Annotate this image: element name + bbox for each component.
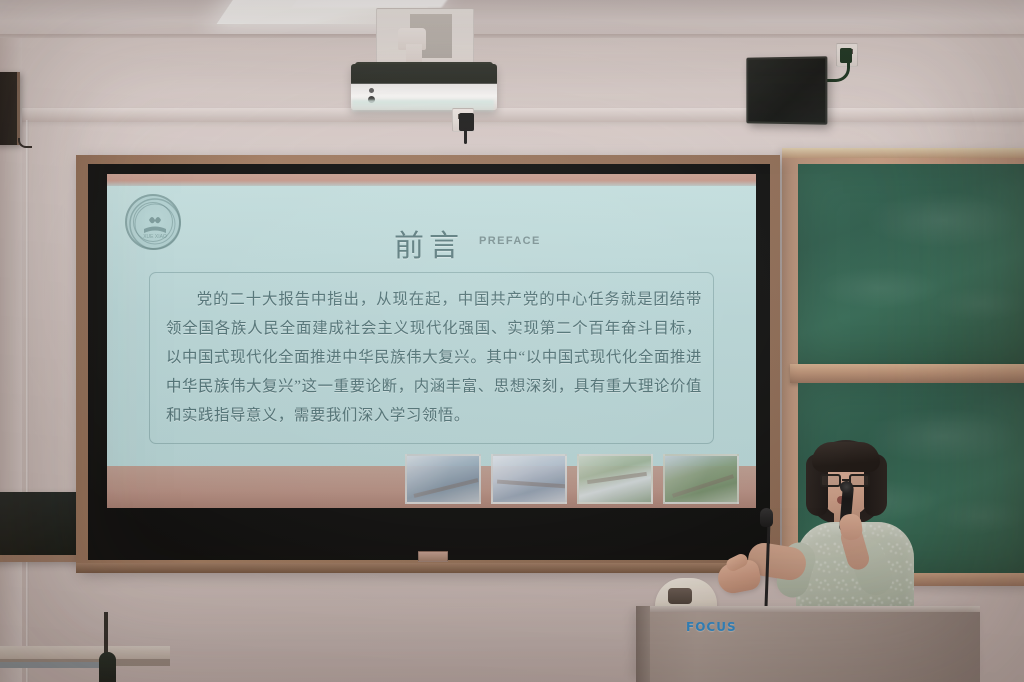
slide-body-text: 党的二十大报告中指出，从现在起，中国共产党的中心任务就是团结带领全国各族人民全面… <box>166 285 702 430</box>
slide-title: 前言 <box>394 221 464 265</box>
slide-thumbnail <box>405 454 481 504</box>
wall-soffit-trim <box>0 108 1024 122</box>
podium-brand-label: FOCUS <box>686 620 737 634</box>
wall-speaker-left-icon <box>0 72 20 145</box>
slide-thumbnail <box>491 454 567 504</box>
svg-text:XUE XIAO: XUE XIAO <box>143 234 167 240</box>
slide-thumbnail-strip <box>405 454 739 504</box>
slide-top-accent-band <box>107 174 756 186</box>
wall-speaker-right-icon <box>746 56 827 124</box>
podium-object <box>668 588 692 604</box>
screen-bottom-rail <box>76 563 780 573</box>
slide-thumbnail <box>577 454 653 504</box>
gooseneck-microphone-head <box>760 508 773 527</box>
left-desk-strip <box>0 662 110 668</box>
school-emblem: XUE XIAO <box>125 194 181 250</box>
presenter-hair-fringe <box>812 442 880 472</box>
chalkboard-panel-upper <box>798 164 1024 364</box>
handheld-microphone-head <box>840 481 853 493</box>
classroom-scene: XUE XIAO 前言 PREFACE 党的二十大报告中指出，从现在起，中国共产… <box>0 0 1024 682</box>
slide-text-container: 党的二十大报告中指出，从现在起，中国共产党的中心任务就是团结带领全国各族人民全面… <box>149 272 714 444</box>
presentation-slide[interactable]: XUE XIAO 前言 PREFACE 党的二十大报告中指出，从现在起，中国共产… <box>107 174 756 508</box>
ceiling <box>0 0 1024 38</box>
podium-left-face <box>636 606 650 682</box>
left-stand-head <box>99 652 116 682</box>
ceiling-light-glow <box>291 0 458 8</box>
slide-thumbnail <box>663 454 739 504</box>
chalkboard-top-trim <box>782 148 1024 158</box>
glasses-lens-left <box>820 474 841 487</box>
chalkboard-chalk-ledge <box>790 364 1024 383</box>
screen-center-badge <box>418 551 448 562</box>
projector-led-1 <box>369 88 374 93</box>
school-emblem-glyph: XUE XIAO <box>127 196 183 252</box>
power-cord-center <box>464 128 467 144</box>
slide-subtitle: PREFACE <box>479 235 541 247</box>
wall-seam <box>26 120 29 682</box>
